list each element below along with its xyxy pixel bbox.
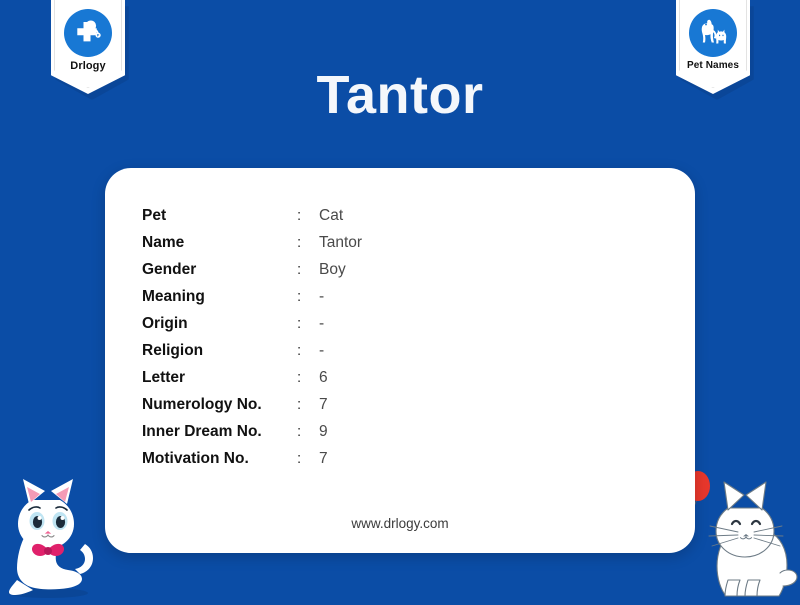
- row-value: Tantor: [319, 234, 362, 252]
- table-row: Pet : Cat: [142, 207, 362, 234]
- row-label: Gender: [142, 261, 297, 279]
- row-separator: :: [297, 342, 319, 359]
- row-label: Religion: [142, 342, 297, 360]
- row-separator: :: [297, 288, 319, 305]
- footer-website-url: www.drlogy.com: [105, 516, 695, 531]
- page-title: Tantor: [0, 64, 800, 126]
- row-label: Letter: [142, 369, 297, 387]
- row-value: 7: [319, 450, 328, 468]
- row-label: Inner Dream No.: [142, 423, 297, 441]
- table-row: Numerology No. : 7: [142, 396, 362, 423]
- row-separator: :: [297, 450, 319, 467]
- details-card: Pet : Cat Name : Tantor Gender : Boy Mea…: [105, 168, 695, 553]
- row-value: Cat: [319, 207, 343, 225]
- pet-details-table: Pet : Cat Name : Tantor Gender : Boy Mea…: [142, 207, 362, 477]
- row-separator: :: [297, 234, 319, 251]
- table-row: Religion : -: [142, 342, 362, 369]
- row-separator: :: [297, 369, 319, 386]
- row-label: Meaning: [142, 288, 297, 306]
- table-row: Origin : -: [142, 315, 362, 342]
- poster-canvas: P Drlogy Pet Names Tantor: [0, 0, 800, 600]
- white-cat-line-art-illustration: [700, 468, 800, 600]
- white-cat-with-pink-bow-illustration: [0, 462, 100, 600]
- row-separator: :: [297, 207, 319, 224]
- row-separator: :: [297, 423, 319, 440]
- table-row: Motivation No. : 7: [142, 450, 362, 477]
- row-value: 7: [319, 396, 328, 414]
- row-label: Name: [142, 234, 297, 252]
- row-value: -: [319, 288, 324, 306]
- row-label: Numerology No.: [142, 396, 297, 414]
- row-label: Motivation No.: [142, 450, 297, 468]
- row-value: 6: [319, 369, 328, 387]
- dog-and-cat-silhouette-icon: [689, 9, 737, 57]
- row-value: -: [319, 315, 324, 333]
- row-value: -: [319, 342, 324, 360]
- table-row: Name : Tantor: [142, 234, 362, 261]
- drlogy-medical-cross-logo-icon: P: [64, 9, 112, 57]
- row-label: Pet: [142, 207, 297, 225]
- table-row: Gender : Boy: [142, 261, 362, 288]
- row-value: Boy: [319, 261, 346, 279]
- row-separator: :: [297, 315, 319, 332]
- row-value: 9: [319, 423, 328, 441]
- row-separator: :: [297, 396, 319, 413]
- table-row: Inner Dream No. : 9: [142, 423, 362, 450]
- row-separator: :: [297, 261, 319, 278]
- table-row: Letter : 6: [142, 369, 362, 396]
- row-label: Origin: [142, 315, 297, 333]
- table-row: Meaning : -: [142, 288, 362, 315]
